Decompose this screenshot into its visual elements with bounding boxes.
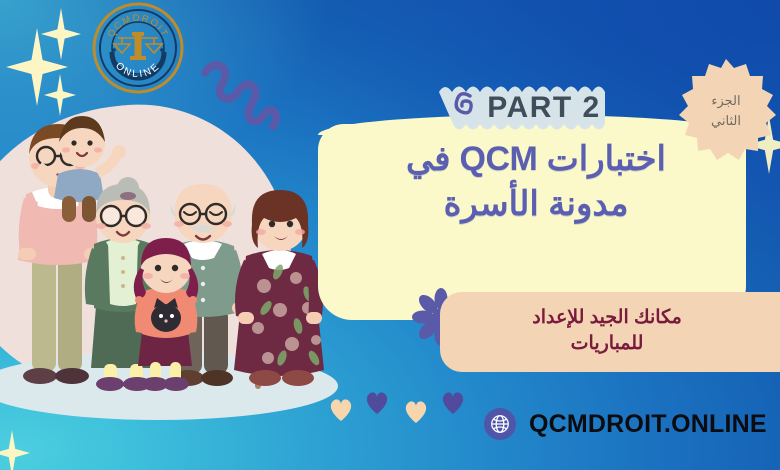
badge-line-2: الثاني [711, 111, 741, 131]
paper-clip-icon [452, 90, 476, 116]
part-number-badge: الجزء الثاني [672, 56, 780, 164]
title-line-2: مدونة الأسرة [330, 183, 742, 226]
brand-logo: QCMDROIT ONLINE [92, 2, 184, 94]
subtitle-line-2: للمباريات [571, 331, 644, 357]
badge-line-1: الجزء [711, 91, 740, 111]
website-url: QCMDROIT.ONLINE [529, 410, 767, 439]
banner-canvas: QCMDROIT ONLINE [0, 0, 780, 470]
title-line-1: اختبارات QCM في [406, 140, 666, 178]
heart-icon [403, 398, 429, 424]
globe-icon [484, 408, 516, 440]
svg-text:ONLINE: ONLINE [113, 60, 163, 80]
heart-icon [364, 389, 390, 415]
subtitle-line-1: مكانك الجيد للإعداد [532, 305, 682, 331]
website-link[interactable]: QCMDROIT.ONLINE [484, 408, 767, 440]
family-illustration [0, 96, 326, 396]
heart-icon [328, 396, 354, 422]
subtitle-panel: مكانك الجيد للإعداد للمباريات [440, 292, 780, 372]
heart-icon [440, 389, 466, 415]
